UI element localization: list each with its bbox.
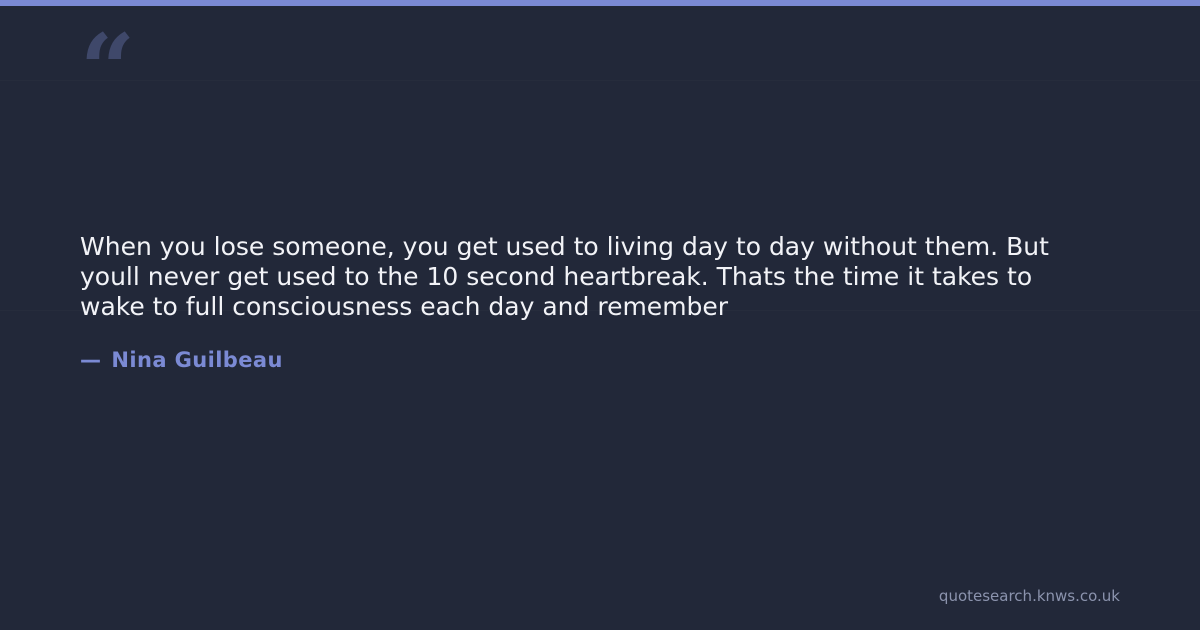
quote-attribution: —Nina Guilbeau <box>80 348 283 372</box>
em-dash: — <box>80 348 101 372</box>
quote-line: wake to full consciousness each day and … <box>80 292 1125 322</box>
background-band <box>0 80 1200 81</box>
open-quote-icon: “ <box>80 22 133 118</box>
site-watermark: quotesearch.knws.co.uk <box>939 587 1120 605</box>
quote-text: When you lose someone, you get used to l… <box>80 232 1125 322</box>
top-accent-bar <box>0 0 1200 6</box>
quote-line: When you lose someone, you get used to l… <box>80 232 1125 262</box>
quote-card: “ When you lose someone, you get used to… <box>0 0 1200 630</box>
author-name: Nina Guilbeau <box>111 348 282 372</box>
quote-line: youll never get used to the 10 second he… <box>80 262 1125 292</box>
